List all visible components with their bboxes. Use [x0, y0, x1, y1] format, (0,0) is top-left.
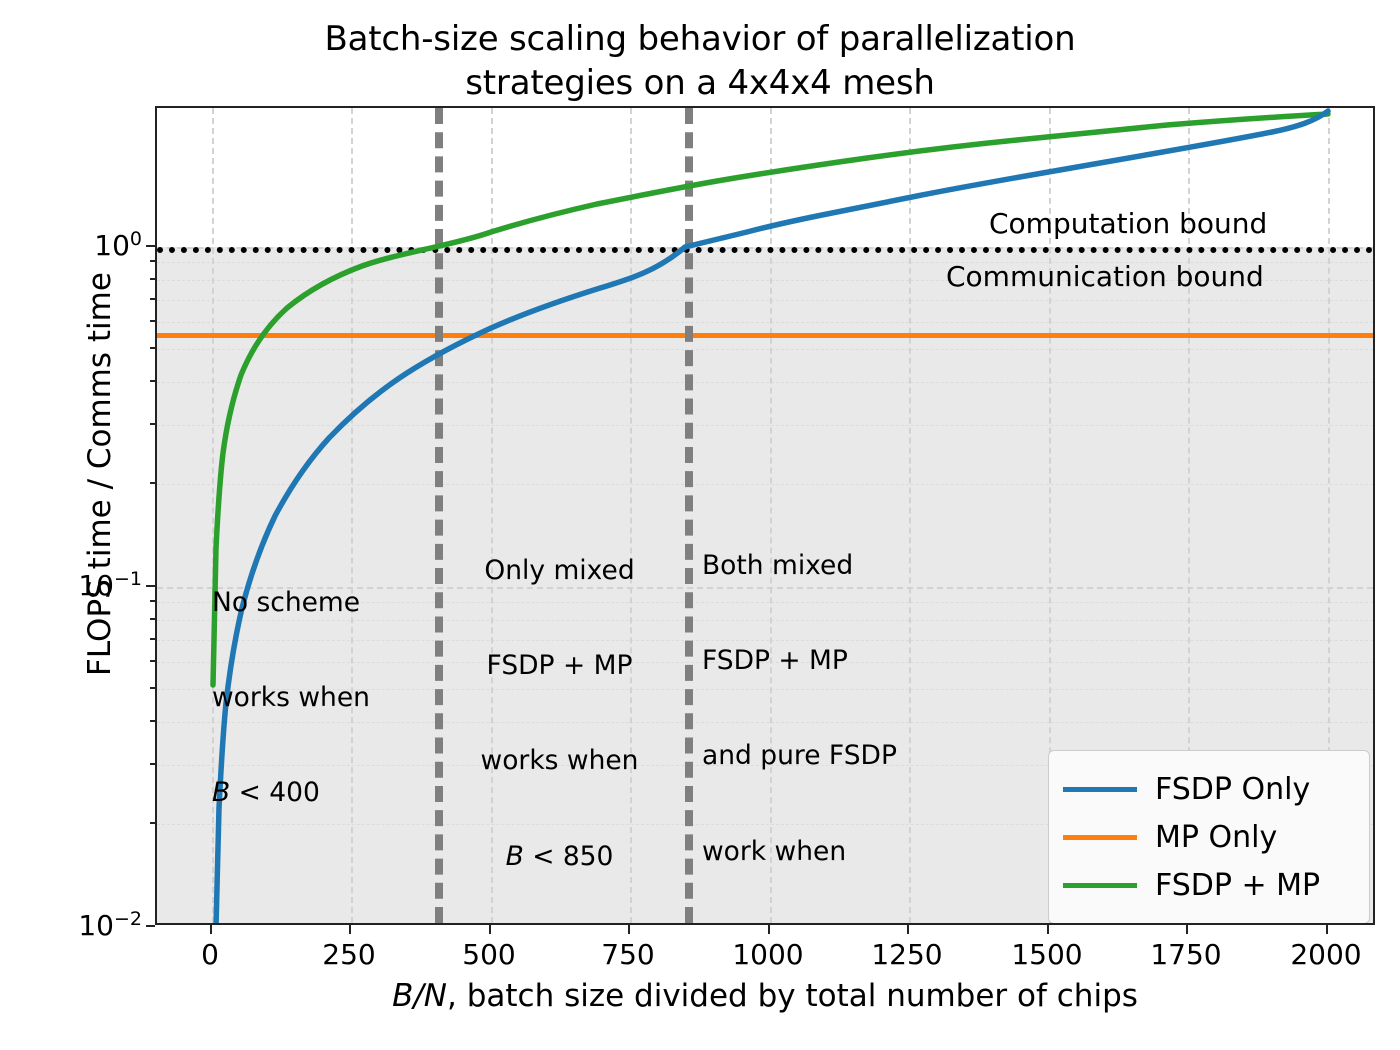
chart-title-line-1: Batch-size scaling behavior of paralleli… [0, 18, 1400, 62]
x-axis-label: B/N, batch size divided by total number … [155, 978, 1375, 1014]
xtick-2000 [1326, 925, 1328, 934]
ytick-0.1 [146, 585, 155, 587]
page-title: Batch-size scaling behavior of paralleli… [0, 18, 1400, 105]
xticklabel-250: 250 [322, 938, 375, 971]
ytick-minor-0.09 [150, 600, 155, 602]
x-axis-label-rest: , batch size divided by total number of … [447, 978, 1138, 1014]
xtick-1250 [907, 925, 909, 934]
chart-title-line-2: strategies on a 4x4x4 mesh [0, 62, 1400, 106]
ytick-0.01 [146, 925, 155, 927]
xtick-1500 [1047, 925, 1049, 934]
ytick-minor-0.06 [150, 660, 155, 662]
xticklabel-0: 0 [201, 938, 219, 971]
xticklabel-750: 750 [601, 938, 654, 971]
ytick-minor-0.9 [150, 260, 155, 262]
region-2-line-3: works when [457, 745, 662, 777]
legend: FSDP Only MP Only FSDP + MP [1048, 750, 1370, 924]
xtick-1000 [768, 925, 770, 934]
legend-swatch-fsdp-only [1063, 787, 1137, 792]
ytick-minor-0.05 [150, 687, 155, 689]
region-3-line-2: FSDP + MP [702, 645, 897, 677]
yticklabel-0.01: 10−2 [24, 908, 142, 942]
region-2-line-1: Only mixed [457, 555, 662, 587]
ytick-minor-0.3 [150, 423, 155, 425]
ytick-1 [146, 245, 155, 247]
ytick-minor-0.2 [150, 482, 155, 484]
region-1-var: B [212, 777, 230, 808]
legend-label-mp-only: MP Only [1155, 820, 1277, 855]
legend-item-mp-only[interactable]: MP Only [1063, 813, 1353, 861]
legend-label-fsdp-only: FSDP Only [1155, 772, 1310, 807]
region-1-line-2: works when [212, 682, 370, 714]
region-1-annotation: No scheme works when B < 400 [212, 523, 370, 873]
ytick-minor-0.07 [150, 638, 155, 640]
xticklabel-1000: 1000 [732, 938, 803, 971]
legend-item-fsdp-only[interactable]: FSDP Only [1063, 765, 1353, 813]
ytick-minor-0.8 [150, 278, 155, 280]
ytick-minor-0.02 [150, 822, 155, 824]
xticklabel-2000: 2000 [1290, 938, 1361, 971]
ytick-minor-0.03 [150, 763, 155, 765]
legend-item-fsdp-mp[interactable]: FSDP + MP [1063, 861, 1353, 909]
xtick-500 [489, 925, 491, 934]
legend-swatch-fsdp-mp [1063, 883, 1137, 888]
ytick-minor-0.08 [150, 618, 155, 620]
xtick-250 [349, 925, 351, 934]
region-1-cond: < 400 [230, 777, 320, 808]
region-3-line-1: Both mixed [702, 550, 897, 582]
legend-label-fsdp-mp: FSDP + MP [1155, 868, 1320, 903]
xticklabel-1500: 1500 [1011, 938, 1082, 971]
ytick-minor-0.4 [150, 380, 155, 382]
xticklabel-500: 500 [462, 938, 515, 971]
region-2-annotation: Only mixed FSDP + MP works when B < 850 [457, 491, 662, 925]
region-3-line-3: and pure FSDP [702, 740, 897, 772]
yticklabel-0.01-mantissa: 10 [78, 909, 114, 942]
region-2-var: B [506, 841, 524, 872]
xtick-750 [628, 925, 630, 934]
ytick-minor-0.04 [150, 720, 155, 722]
plot-area: Computation bound Communication bound No… [155, 106, 1375, 925]
ytick-minor-0.7 [150, 298, 155, 300]
communication-bound-label: Communication bound [946, 260, 1264, 293]
x-axis-label-italic: B/N [392, 978, 447, 1014]
region-2-line-2: FSDP + MP [457, 650, 662, 682]
region-2-line-4: B < 850 [457, 841, 662, 873]
region-1-line-3: B < 400 [212, 777, 370, 809]
xtick-1750 [1186, 925, 1188, 934]
yticklabel-0.1-exponent: −1 [114, 568, 142, 590]
legend-swatch-mp-only [1063, 835, 1137, 840]
region-1-line-1: No scheme [212, 587, 370, 619]
region-3-annotation: Both mixed FSDP + MP and pure FSDP work … [702, 486, 897, 925]
yticklabel-0.01-exponent: −2 [114, 908, 142, 930]
yticklabel-1-exponent: 0 [130, 228, 142, 250]
y-axis-label: FLOPS time / Comms time [82, 74, 118, 874]
ytick-minor-0.5 [150, 347, 155, 349]
xticklabel-1750: 1750 [1150, 938, 1221, 971]
computation-bound-label: Computation bound [989, 207, 1267, 240]
xtick-0 [210, 925, 212, 934]
region-2-cond: < 850 [524, 841, 614, 872]
ytick-minor-0.6 [150, 320, 155, 322]
xticklabel-1250: 1250 [871, 938, 942, 971]
region-3-line-4: work when [702, 836, 897, 868]
chart-figure: Batch-size scaling behavior of paralleli… [0, 0, 1400, 1050]
